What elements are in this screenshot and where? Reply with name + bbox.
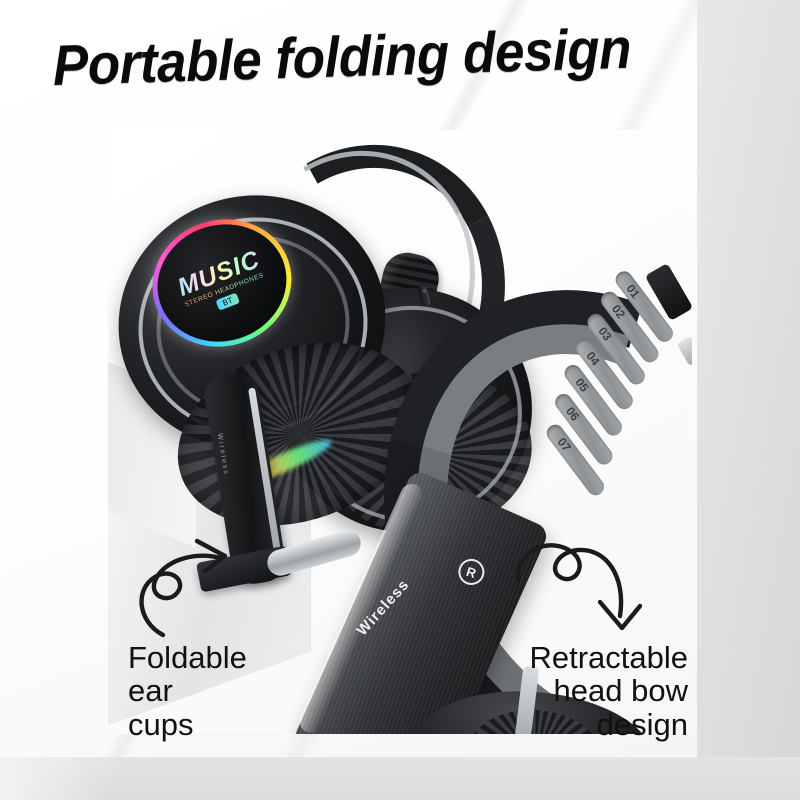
right-edge-shadow <box>697 0 800 757</box>
product-feature-banner: Portable folding design MUSIC STEREO HEA… <box>0 0 800 800</box>
callout-foldable-ear-cups: Foldable ear cups <box>128 641 247 741</box>
curly-arrow-up-right-icon <box>125 523 255 643</box>
callout-retractable-head-bow-design: Retractable head bow design <box>402 641 688 741</box>
arm-brand-text: Wireless <box>216 433 230 476</box>
bottom-edge-shadow <box>0 757 800 800</box>
right-side-marker: R <box>455 556 488 589</box>
